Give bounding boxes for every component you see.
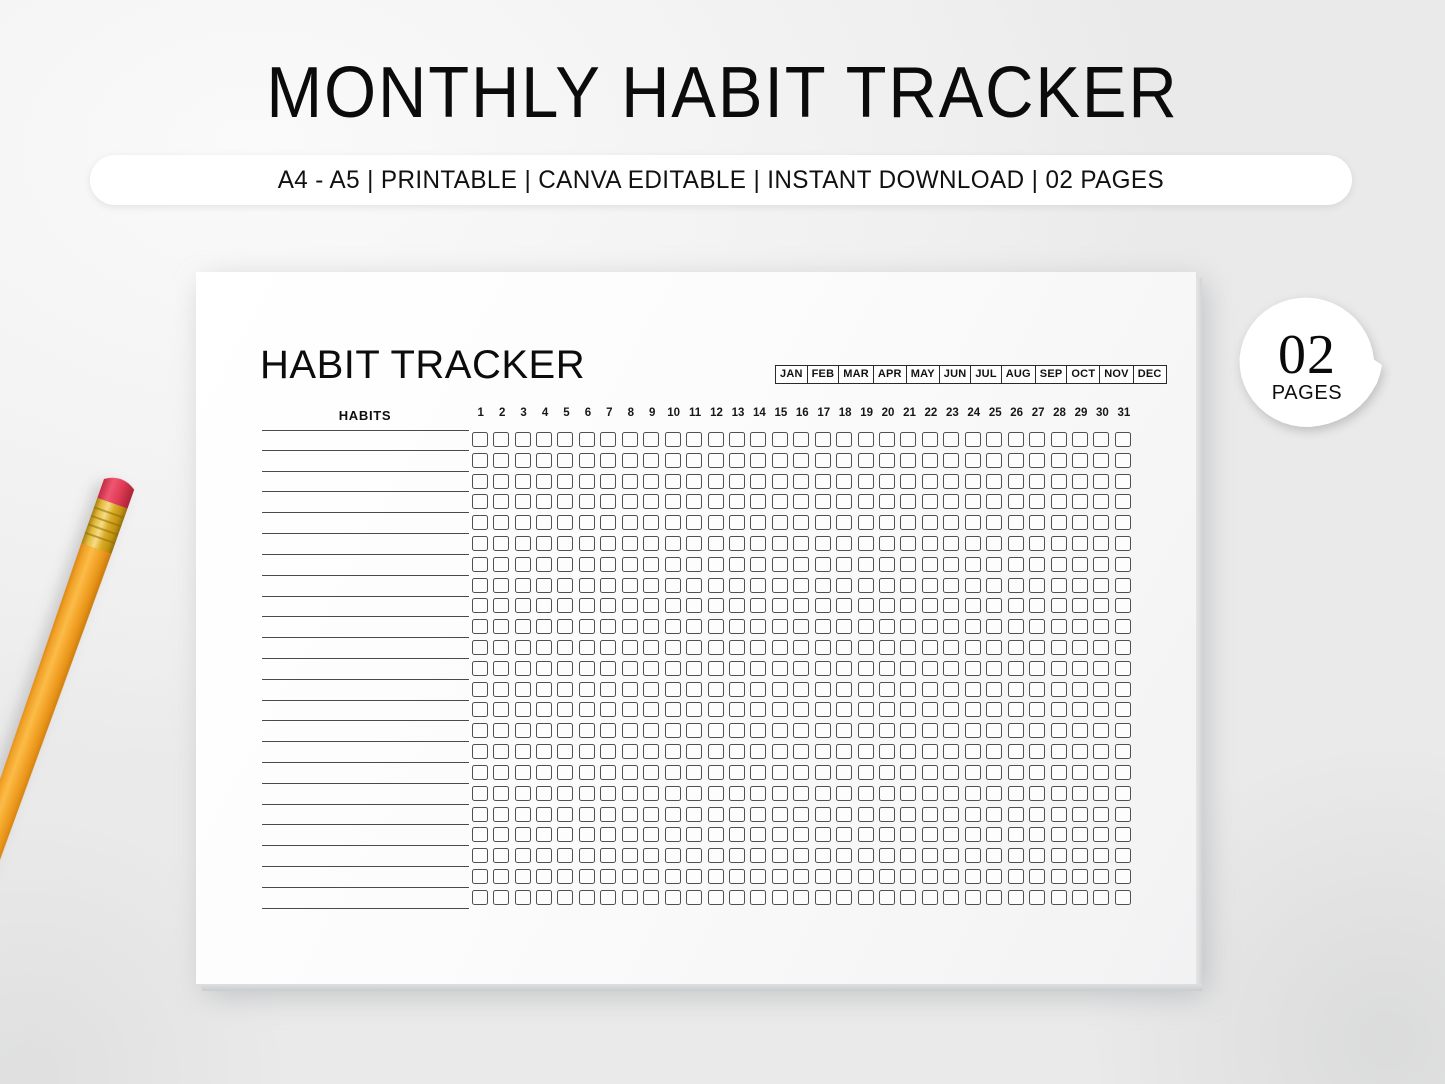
grid-cell[interactable] xyxy=(683,824,704,845)
habit-checkbox-day-13[interactable] xyxy=(729,744,745,759)
habit-checkbox-day-9[interactable] xyxy=(643,661,659,676)
grid-cell[interactable] xyxy=(490,575,511,596)
habit-checkbox-day-19[interactable] xyxy=(858,661,874,676)
habit-checkbox-day-31[interactable] xyxy=(1115,619,1131,634)
habit-checkbox-day-2[interactable] xyxy=(493,807,509,822)
habit-checkbox-day-11[interactable] xyxy=(686,494,702,509)
grid-cell[interactable] xyxy=(662,533,683,554)
habit-checkbox-day-27[interactable] xyxy=(1029,786,1045,801)
habit-checkbox-day-11[interactable] xyxy=(686,848,702,863)
grid-cell[interactable] xyxy=(619,658,640,679)
grid-cell[interactable] xyxy=(1091,720,1112,741)
habit-checkbox-day-24[interactable] xyxy=(965,598,981,613)
habit-checkbox-day-25[interactable] xyxy=(986,578,1002,593)
grid-cell[interactable] xyxy=(641,741,662,762)
grid-cell[interactable] xyxy=(791,866,812,887)
grid-cell[interactable] xyxy=(641,679,662,700)
habit-checkbox-day-21[interactable] xyxy=(900,557,916,572)
grid-cell[interactable] xyxy=(512,491,533,512)
habit-checkbox-day-5[interactable] xyxy=(557,682,573,697)
grid-cell[interactable] xyxy=(469,533,490,554)
habit-checkbox-day-1[interactable] xyxy=(472,807,488,822)
grid-cell[interactable] xyxy=(469,720,490,741)
month-selector-strip[interactable]: JANFEBMARAPRMAYJUNJULAUGSEPOCTNOVDEC xyxy=(775,365,1167,384)
grid-cell[interactable] xyxy=(576,741,597,762)
grid-cell[interactable] xyxy=(1048,450,1069,471)
grid-cell[interactable] xyxy=(769,471,790,492)
grid-cell[interactable] xyxy=(469,616,490,637)
habit-checkbox-day-8[interactable] xyxy=(622,578,638,593)
grid-cell[interactable] xyxy=(855,824,876,845)
habit-checkbox-day-13[interactable] xyxy=(729,557,745,572)
habit-checkbox-day-24[interactable] xyxy=(965,786,981,801)
grid-cell[interactable] xyxy=(576,533,597,554)
grid-cell[interactable] xyxy=(619,575,640,596)
habit-checkbox-day-9[interactable] xyxy=(643,619,659,634)
grid-cell[interactable] xyxy=(1005,845,1026,866)
habit-checkbox-day-22[interactable] xyxy=(922,598,938,613)
grid-cell[interactable] xyxy=(512,429,533,450)
habit-checkbox-day-10[interactable] xyxy=(665,869,681,884)
grid-cell[interactable] xyxy=(1069,845,1090,866)
grid-cell[interactable] xyxy=(683,783,704,804)
grid-cell[interactable] xyxy=(1026,720,1047,741)
habit-checkbox-day-30[interactable] xyxy=(1093,744,1109,759)
grid-cell[interactable] xyxy=(791,804,812,825)
habit-checkbox-day-27[interactable] xyxy=(1029,598,1045,613)
grid-cell[interactable] xyxy=(469,679,490,700)
grid-cell[interactable] xyxy=(576,596,597,617)
habit-checkbox-day-21[interactable] xyxy=(900,432,916,447)
grid-cell[interactable] xyxy=(898,616,919,637)
habit-checkbox-day-4[interactable] xyxy=(536,723,552,738)
grid-cell[interactable] xyxy=(984,762,1005,783)
grid-cell[interactable] xyxy=(619,471,640,492)
habit-checkbox-day-9[interactable] xyxy=(643,807,659,822)
habit-checkbox-day-27[interactable] xyxy=(1029,890,1045,905)
grid-cell[interactable] xyxy=(512,804,533,825)
grid-cell[interactable] xyxy=(576,845,597,866)
habit-checkbox-day-8[interactable] xyxy=(622,453,638,468)
habit-checkbox-day-17[interactable] xyxy=(815,765,831,780)
grid-cell[interactable] xyxy=(1091,575,1112,596)
habit-checkbox-day-15[interactable] xyxy=(772,807,788,822)
grid-cell[interactable] xyxy=(1069,596,1090,617)
habit-checkbox-day-26[interactable] xyxy=(1008,890,1024,905)
grid-cell[interactable] xyxy=(984,512,1005,533)
grid-cell[interactable] xyxy=(876,429,897,450)
grid-cell[interactable] xyxy=(812,429,833,450)
grid-cell[interactable] xyxy=(576,616,597,637)
habit-checkbox-day-15[interactable] xyxy=(772,578,788,593)
habit-checkbox-day-14[interactable] xyxy=(750,640,766,655)
habit-checkbox-day-11[interactable] xyxy=(686,453,702,468)
grid-cell[interactable] xyxy=(619,824,640,845)
grid-cell[interactable] xyxy=(641,887,662,908)
grid-cell[interactable] xyxy=(919,845,940,866)
grid-cell[interactable] xyxy=(555,845,576,866)
grid-cell[interactable] xyxy=(919,596,940,617)
habit-checkbox-day-21[interactable] xyxy=(900,869,916,884)
habit-checkbox-day-29[interactable] xyxy=(1072,765,1088,780)
grid-cell[interactable] xyxy=(576,471,597,492)
habit-checkbox-day-24[interactable] xyxy=(965,807,981,822)
grid-cell[interactable] xyxy=(941,804,962,825)
habit-checkbox-day-1[interactable] xyxy=(472,765,488,780)
grid-cell[interactable] xyxy=(641,637,662,658)
habit-checkbox-day-30[interactable] xyxy=(1093,661,1109,676)
grid-cell[interactable] xyxy=(683,700,704,721)
grid-cell[interactable] xyxy=(705,741,726,762)
grid-cell[interactable] xyxy=(469,887,490,908)
habit-checkbox-day-3[interactable] xyxy=(515,786,531,801)
habit-checkbox-day-21[interactable] xyxy=(900,515,916,530)
grid-cell[interactable] xyxy=(791,845,812,866)
grid-cell[interactable] xyxy=(1069,471,1090,492)
habit-checkbox-day-13[interactable] xyxy=(729,827,745,842)
grid-cell[interactable] xyxy=(876,596,897,617)
habit-checkbox-day-3[interactable] xyxy=(515,453,531,468)
habit-checkbox-day-27[interactable] xyxy=(1029,619,1045,634)
habit-checkbox-day-26[interactable] xyxy=(1008,827,1024,842)
grid-cell[interactable] xyxy=(833,554,854,575)
month-cell-apr[interactable]: APR xyxy=(873,365,906,384)
habit-checkbox-day-2[interactable] xyxy=(493,474,509,489)
habit-checkbox-day-14[interactable] xyxy=(750,619,766,634)
habit-checkbox-day-11[interactable] xyxy=(686,682,702,697)
grid-cell[interactable] xyxy=(984,824,1005,845)
grid-cell[interactable] xyxy=(662,596,683,617)
habit-checkbox-day-13[interactable] xyxy=(729,578,745,593)
habit-checkbox-day-20[interactable] xyxy=(879,432,895,447)
habit-checkbox-day-6[interactable] xyxy=(579,702,595,717)
grid-cell[interactable] xyxy=(962,887,983,908)
grid-cell[interactable] xyxy=(984,679,1005,700)
grid-cell[interactable] xyxy=(619,491,640,512)
habit-checkbox-day-21[interactable] xyxy=(900,619,916,634)
habit-checkbox-day-19[interactable] xyxy=(858,848,874,863)
habit-checkbox-day-31[interactable] xyxy=(1115,702,1131,717)
grid-cell[interactable] xyxy=(705,720,726,741)
grid-cell[interactable] xyxy=(941,824,962,845)
grid-cell[interactable] xyxy=(1026,804,1047,825)
grid-cell[interactable] xyxy=(576,679,597,700)
grid-cell[interactable] xyxy=(598,783,619,804)
habit-checkbox-day-26[interactable] xyxy=(1008,474,1024,489)
grid-cell[interactable] xyxy=(662,512,683,533)
habit-checkbox-day-15[interactable] xyxy=(772,557,788,572)
habit-checkbox-day-16[interactable] xyxy=(793,536,809,551)
habit-checkbox-day-29[interactable] xyxy=(1072,786,1088,801)
habit-checkbox-day-9[interactable] xyxy=(643,723,659,738)
habit-name-line[interactable] xyxy=(262,534,469,555)
grid-cell[interactable] xyxy=(683,741,704,762)
habit-checkbox-day-23[interactable] xyxy=(943,702,959,717)
grid-cell[interactable] xyxy=(1048,658,1069,679)
habit-checkbox-day-26[interactable] xyxy=(1008,453,1024,468)
habit-checkbox-day-1[interactable] xyxy=(472,723,488,738)
grid-cell[interactable] xyxy=(876,554,897,575)
grid-cell[interactable] xyxy=(1005,429,1026,450)
habit-checkbox-day-29[interactable] xyxy=(1072,619,1088,634)
habit-checkbox-day-27[interactable] xyxy=(1029,807,1045,822)
grid-cell[interactable] xyxy=(919,658,940,679)
month-cell-aug[interactable]: AUG xyxy=(1001,365,1035,384)
grid-cell[interactable] xyxy=(662,720,683,741)
grid-cell[interactable] xyxy=(962,658,983,679)
grid-cell[interactable] xyxy=(791,887,812,908)
grid-cell[interactable] xyxy=(919,450,940,471)
habit-checkbox-day-27[interactable] xyxy=(1029,515,1045,530)
grid-cell[interactable] xyxy=(598,720,619,741)
habit-checkbox-day-20[interactable] xyxy=(879,578,895,593)
habit-checkbox-day-24[interactable] xyxy=(965,432,981,447)
habit-checkbox-day-2[interactable] xyxy=(493,661,509,676)
habit-checkbox-day-28[interactable] xyxy=(1051,578,1067,593)
habit-checkbox-day-30[interactable] xyxy=(1093,619,1109,634)
grid-cell[interactable] xyxy=(1091,471,1112,492)
grid-cell[interactable] xyxy=(705,824,726,845)
grid-cell[interactable] xyxy=(812,471,833,492)
grid-cell[interactable] xyxy=(705,471,726,492)
habit-checkbox-day-24[interactable] xyxy=(965,702,981,717)
grid-cell[interactable] xyxy=(1069,575,1090,596)
grid-cell[interactable] xyxy=(769,429,790,450)
habit-checkbox-day-18[interactable] xyxy=(836,432,852,447)
grid-cell[interactable] xyxy=(812,616,833,637)
grid-cell[interactable] xyxy=(1048,762,1069,783)
habit-checkbox-day-28[interactable] xyxy=(1051,723,1067,738)
habit-checkbox-day-26[interactable] xyxy=(1008,598,1024,613)
habit-checkbox-day-21[interactable] xyxy=(900,890,916,905)
habit-checkbox-day-6[interactable] xyxy=(579,453,595,468)
grid-cell[interactable] xyxy=(1112,824,1133,845)
habit-checkbox-day-14[interactable] xyxy=(750,786,766,801)
grid-cell[interactable] xyxy=(469,866,490,887)
habit-checkbox-day-5[interactable] xyxy=(557,578,573,593)
grid-cell[interactable] xyxy=(748,491,769,512)
habit-checkbox-day-30[interactable] xyxy=(1093,869,1109,884)
grid-cell[interactable] xyxy=(683,450,704,471)
grid-cell[interactable] xyxy=(1091,491,1112,512)
grid-cell[interactable] xyxy=(705,887,726,908)
habit-checkbox-day-10[interactable] xyxy=(665,786,681,801)
grid-cell[interactable] xyxy=(662,679,683,700)
grid-cell[interactable] xyxy=(769,554,790,575)
grid-cell[interactable] xyxy=(662,429,683,450)
habit-checkbox-day-17[interactable] xyxy=(815,890,831,905)
grid-cell[interactable] xyxy=(641,824,662,845)
habit-checkbox-day-20[interactable] xyxy=(879,827,895,842)
grid-cell[interactable] xyxy=(748,700,769,721)
grid-cell[interactable] xyxy=(490,762,511,783)
habit-checkbox-day-17[interactable] xyxy=(815,702,831,717)
habit-checkbox-day-2[interactable] xyxy=(493,786,509,801)
habit-checkbox-day-26[interactable] xyxy=(1008,869,1024,884)
grid-cell[interactable] xyxy=(898,512,919,533)
habit-checkbox-day-7[interactable] xyxy=(600,494,616,509)
grid-cell[interactable] xyxy=(833,700,854,721)
grid-cell[interactable] xyxy=(1069,450,1090,471)
grid-cell[interactable] xyxy=(748,575,769,596)
grid-cell[interactable] xyxy=(490,450,511,471)
grid-cell[interactable] xyxy=(984,700,1005,721)
habit-checkbox-day-29[interactable] xyxy=(1072,494,1088,509)
grid-cell[interactable] xyxy=(641,700,662,721)
grid-cell[interactable] xyxy=(641,616,662,637)
habit-checkbox-day-22[interactable] xyxy=(922,661,938,676)
grid-cell[interactable] xyxy=(812,783,833,804)
grid-cell[interactable] xyxy=(490,471,511,492)
habit-checkbox-day-6[interactable] xyxy=(579,598,595,613)
habit-checkbox-day-18[interactable] xyxy=(836,515,852,530)
grid-cell[interactable] xyxy=(533,845,554,866)
grid-cell[interactable] xyxy=(876,783,897,804)
grid-cell[interactable] xyxy=(898,596,919,617)
habit-checkbox-day-27[interactable] xyxy=(1029,557,1045,572)
habit-checkbox-day-5[interactable] xyxy=(557,494,573,509)
habit-checkbox-day-30[interactable] xyxy=(1093,848,1109,863)
grid-cell[interactable] xyxy=(791,575,812,596)
grid-cell[interactable] xyxy=(533,471,554,492)
grid-cell[interactable] xyxy=(683,720,704,741)
habit-checkbox-day-25[interactable] xyxy=(986,474,1002,489)
habit-checkbox-day-2[interactable] xyxy=(493,702,509,717)
habit-checkbox-day-17[interactable] xyxy=(815,536,831,551)
grid-cell[interactable] xyxy=(1026,637,1047,658)
grid-cell[interactable] xyxy=(1069,616,1090,637)
grid-cell[interactable] xyxy=(855,450,876,471)
grid-cell[interactable] xyxy=(598,804,619,825)
grid-cell[interactable] xyxy=(598,887,619,908)
grid-cell[interactable] xyxy=(1048,616,1069,637)
grid-cell[interactable] xyxy=(876,700,897,721)
grid-cell[interactable] xyxy=(619,720,640,741)
grid-cell[interactable] xyxy=(512,887,533,908)
habit-checkbox-day-11[interactable] xyxy=(686,598,702,613)
grid-cell[interactable] xyxy=(576,637,597,658)
habit-checkbox-day-28[interactable] xyxy=(1051,807,1067,822)
habit-checkbox-day-18[interactable] xyxy=(836,890,852,905)
grid-cell[interactable] xyxy=(833,471,854,492)
habit-checkbox-day-29[interactable] xyxy=(1072,453,1088,468)
grid-cell[interactable] xyxy=(512,616,533,637)
grid-cell[interactable] xyxy=(898,658,919,679)
grid-cell[interactable] xyxy=(555,533,576,554)
grid-cell[interactable] xyxy=(962,616,983,637)
habit-checkbox-day-4[interactable] xyxy=(536,786,552,801)
habit-checkbox-day-26[interactable] xyxy=(1008,744,1024,759)
grid-cell[interactable] xyxy=(1026,491,1047,512)
grid-cell[interactable] xyxy=(619,512,640,533)
grid-cell[interactable] xyxy=(1005,741,1026,762)
grid-cell[interactable] xyxy=(490,741,511,762)
habit-checkbox-day-26[interactable] xyxy=(1008,494,1024,509)
habit-checkbox-day-5[interactable] xyxy=(557,723,573,738)
grid-cell[interactable] xyxy=(941,720,962,741)
grid-cell[interactable] xyxy=(726,533,747,554)
habit-checkbox-day-3[interactable] xyxy=(515,848,531,863)
habit-checkbox-day-21[interactable] xyxy=(900,786,916,801)
habit-checkbox-day-5[interactable] xyxy=(557,744,573,759)
habit-checkbox-day-22[interactable] xyxy=(922,432,938,447)
habit-checkbox-day-29[interactable] xyxy=(1072,723,1088,738)
habit-checkbox-day-30[interactable] xyxy=(1093,432,1109,447)
habit-checkbox-day-23[interactable] xyxy=(943,765,959,780)
habit-checkbox-day-19[interactable] xyxy=(858,682,874,697)
habit-checkbox-day-5[interactable] xyxy=(557,890,573,905)
habit-checkbox-day-10[interactable] xyxy=(665,640,681,655)
habit-checkbox-day-24[interactable] xyxy=(965,827,981,842)
habit-checkbox-day-13[interactable] xyxy=(729,848,745,863)
habit-checkbox-day-9[interactable] xyxy=(643,432,659,447)
grid-cell[interactable] xyxy=(555,658,576,679)
habit-checkbox-day-3[interactable] xyxy=(515,494,531,509)
habit-checkbox-day-20[interactable] xyxy=(879,786,895,801)
grid-cell[interactable] xyxy=(1091,762,1112,783)
grid-cell[interactable] xyxy=(533,804,554,825)
habit-checkbox-day-20[interactable] xyxy=(879,494,895,509)
grid-cell[interactable] xyxy=(469,471,490,492)
grid-cell[interactable] xyxy=(962,741,983,762)
habit-checkbox-day-16[interactable] xyxy=(793,661,809,676)
habit-checkbox-day-30[interactable] xyxy=(1093,702,1109,717)
habit-name-line[interactable] xyxy=(262,701,469,722)
habit-checkbox-day-9[interactable] xyxy=(643,682,659,697)
habit-checkbox-day-26[interactable] xyxy=(1008,536,1024,551)
habit-checkbox-day-20[interactable] xyxy=(879,619,895,634)
grid-cell[interactable] xyxy=(919,533,940,554)
grid-cell[interactable] xyxy=(533,824,554,845)
habit-checkbox-day-26[interactable] xyxy=(1008,765,1024,780)
habit-checkbox-day-18[interactable] xyxy=(836,536,852,551)
grid-cell[interactable] xyxy=(662,616,683,637)
habit-checkbox-day-22[interactable] xyxy=(922,536,938,551)
habit-checkbox-day-18[interactable] xyxy=(836,744,852,759)
grid-cell[interactable] xyxy=(705,762,726,783)
habit-checkbox-day-21[interactable] xyxy=(900,848,916,863)
habit-checkbox-day-26[interactable] xyxy=(1008,848,1024,863)
habit-checkbox-day-22[interactable] xyxy=(922,702,938,717)
grid-cell[interactable] xyxy=(962,700,983,721)
grid-cell[interactable] xyxy=(898,783,919,804)
grid-cell[interactable] xyxy=(619,596,640,617)
grid-cell[interactable] xyxy=(898,762,919,783)
grid-cell[interactable] xyxy=(791,429,812,450)
grid-cell[interactable] xyxy=(512,679,533,700)
habit-checkbox-day-27[interactable] xyxy=(1029,494,1045,509)
grid-cell[interactable] xyxy=(576,804,597,825)
habit-checkbox-day-29[interactable] xyxy=(1072,807,1088,822)
grid-cell[interactable] xyxy=(769,866,790,887)
habit-checkbox-day-25[interactable] xyxy=(986,765,1002,780)
grid-cell[interactable] xyxy=(876,762,897,783)
grid-cell[interactable] xyxy=(555,575,576,596)
habit-checkbox-day-13[interactable] xyxy=(729,515,745,530)
habit-checkbox-day-20[interactable] xyxy=(879,453,895,468)
grid-cell[interactable] xyxy=(984,783,1005,804)
habit-checkbox-day-25[interactable] xyxy=(986,619,1002,634)
grid-cell[interactable] xyxy=(1005,554,1026,575)
grid-cell[interactable] xyxy=(490,491,511,512)
habit-checkbox-day-11[interactable] xyxy=(686,557,702,572)
habit-checkbox-day-21[interactable] xyxy=(900,765,916,780)
month-cell-sep[interactable]: SEP xyxy=(1035,365,1067,384)
habit-checkbox-day-24[interactable] xyxy=(965,536,981,551)
habit-checkbox-day-5[interactable] xyxy=(557,619,573,634)
grid-cell[interactable] xyxy=(769,450,790,471)
habit-checkbox-day-11[interactable] xyxy=(686,744,702,759)
